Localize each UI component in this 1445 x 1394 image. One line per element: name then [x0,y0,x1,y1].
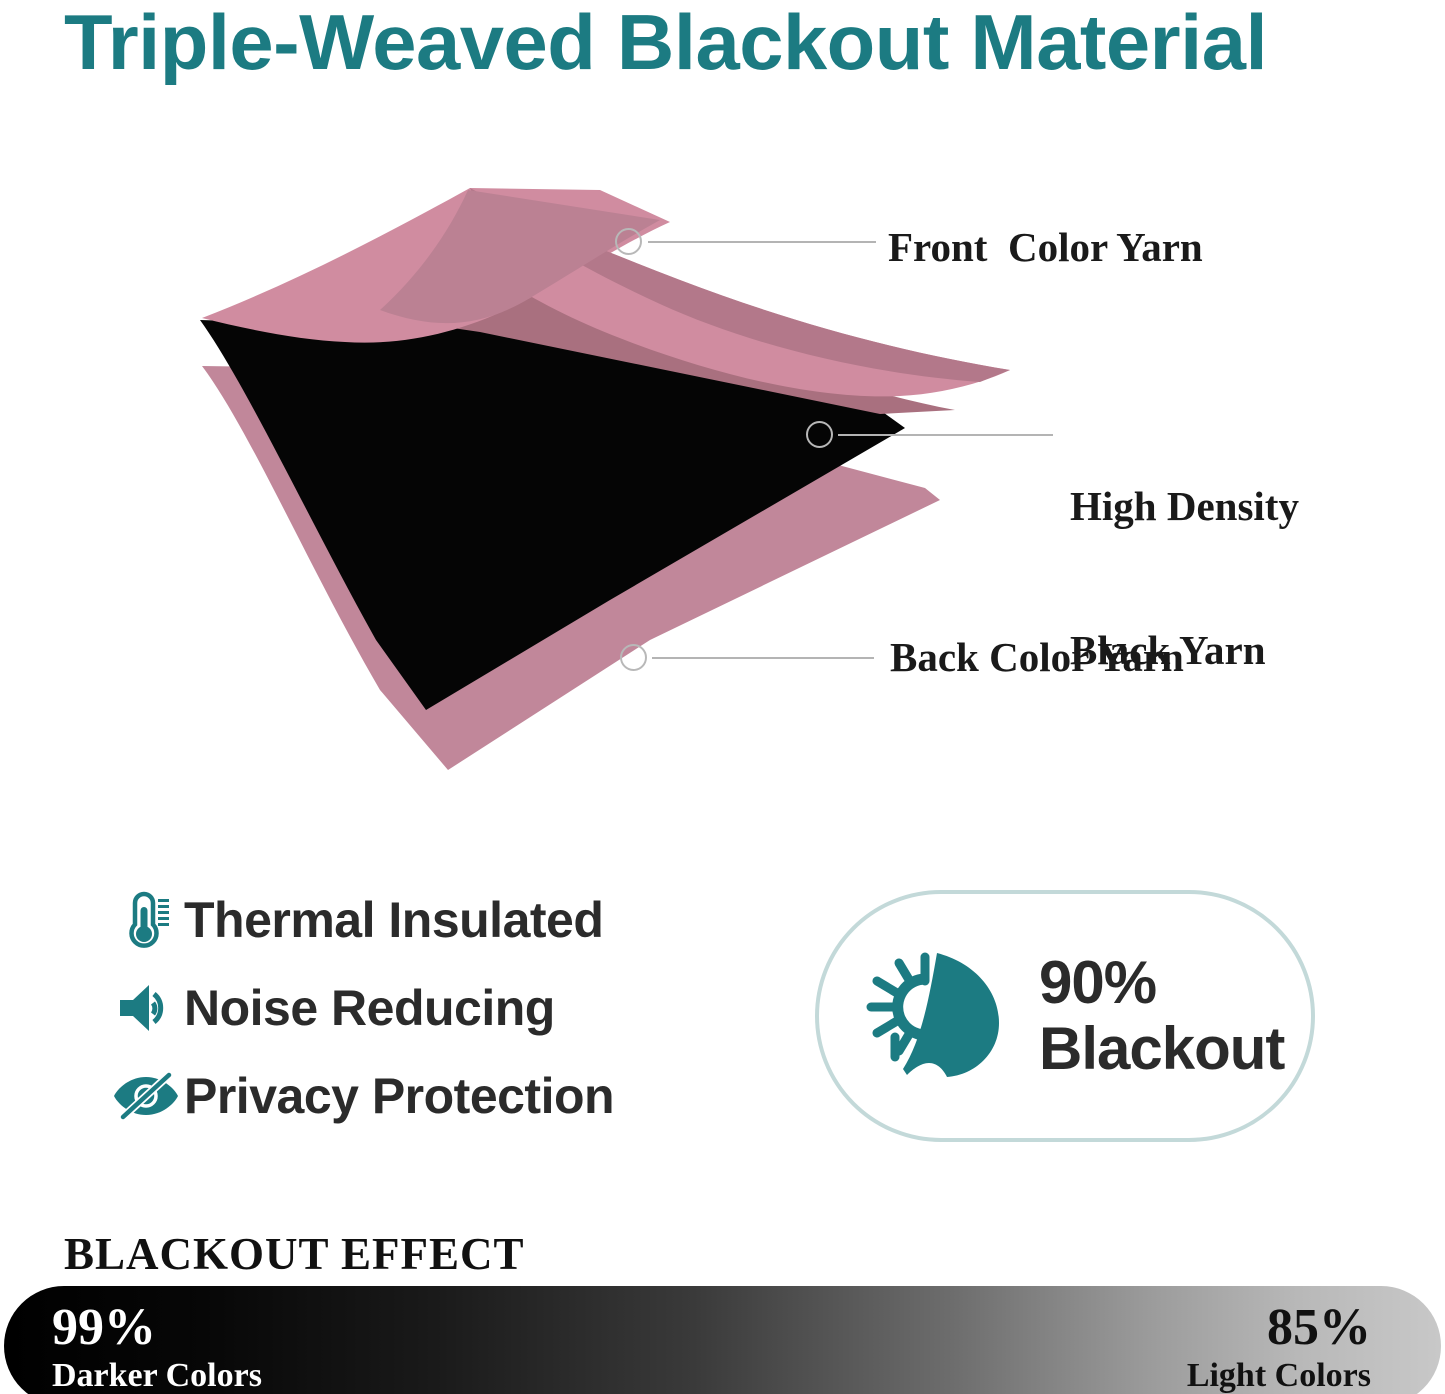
light-colors-percent: 85% [1187,1300,1371,1356]
blackout-badge-text: 90% Blackout [1039,950,1284,1082]
eye-slash-icon [108,1071,184,1121]
blackout-percent: 90% [1039,950,1284,1016]
callout-dot-icon-back [620,644,647,671]
sun-blocked-icon [863,941,1013,1091]
gradient-bar-left-stat: 99% Darker Colors [52,1300,262,1394]
callout-label-high-density-line1: High Density [1070,482,1299,530]
callout-label-front: Front Color Yarn [888,222,1203,272]
blackout-label: Blackout [1039,1016,1284,1082]
leader-line-high-density [838,434,1053,436]
callout-label-back: Back Color Yarn [890,632,1184,682]
darker-colors-label: Darker Colors [52,1356,262,1394]
feature-label-privacy-protection: Privacy Protection [184,1068,614,1124]
leader-line-back [652,657,874,659]
blackout-effect-heading: BLACKOUT EFFECT [64,1228,525,1280]
infographic-page: Triple-Weaved Blackout Material Front Co… [0,0,1445,1394]
feature-label-thermal-insulated: Thermal Insulated [184,892,603,948]
feature-item-thermal-insulated: Thermal Insulated [108,876,788,964]
feature-list: Thermal Insulated Noise Reducing [108,876,788,1140]
feature-item-privacy-protection: Privacy Protection [108,1052,788,1140]
callout-dot-icon-high-density [806,421,833,448]
light-colors-label: Light Colors [1187,1356,1371,1394]
callout-label-high-density: High Density Black Yarn [1070,386,1299,770]
feature-item-noise-reducing: Noise Reducing [108,964,788,1052]
darker-colors-percent: 99% [52,1300,262,1356]
feature-label-noise-reducing: Noise Reducing [184,980,555,1036]
callout-dot-icon-front [615,228,642,255]
thermometer-icon [108,888,184,952]
blackout-badge: 90% Blackout [815,890,1315,1142]
leader-line-front [648,241,876,243]
gradient-bar-right-stat: 85% Light Colors [1187,1300,1371,1394]
speaker-sound-icon [108,981,184,1035]
page-title: Triple-Weaved Blackout Material [64,0,1421,92]
